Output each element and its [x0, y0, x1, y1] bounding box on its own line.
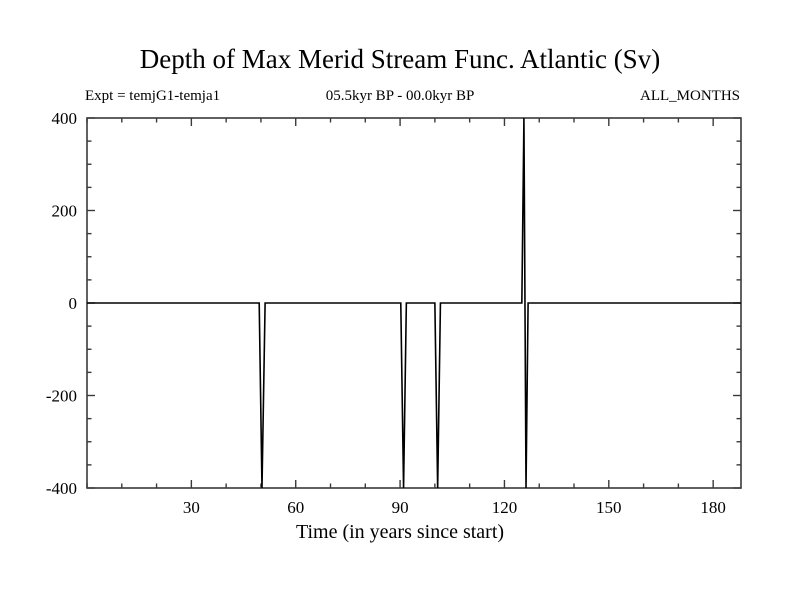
plot-page: Depth of Max Merid Stream Func. Atlantic… [0, 0, 800, 600]
x-axis-tick-label: 150 [596, 498, 622, 517]
y-axis-tick-label: 0 [69, 294, 78, 313]
x-axis-tick-label: 90 [392, 498, 409, 517]
line-chart: 306090120150180-400-2000200400 [0, 0, 800, 600]
chart-area: 306090120150180-400-2000200400 [0, 0, 800, 600]
y-axis-tick-label: 400 [52, 109, 78, 128]
y-axis-tick-label: 200 [52, 202, 78, 221]
x-axis-title: Time (in years since start) [0, 521, 800, 544]
y-axis-tick-label: -200 [46, 387, 77, 406]
x-axis-tick-label: 60 [287, 498, 304, 517]
x-axis-tick-label: 180 [700, 498, 726, 517]
x-axis-tick-label: 30 [183, 498, 200, 517]
y-axis-tick-label: -400 [46, 479, 77, 498]
data-line [87, 118, 741, 488]
x-axis-tick-label: 120 [492, 498, 518, 517]
